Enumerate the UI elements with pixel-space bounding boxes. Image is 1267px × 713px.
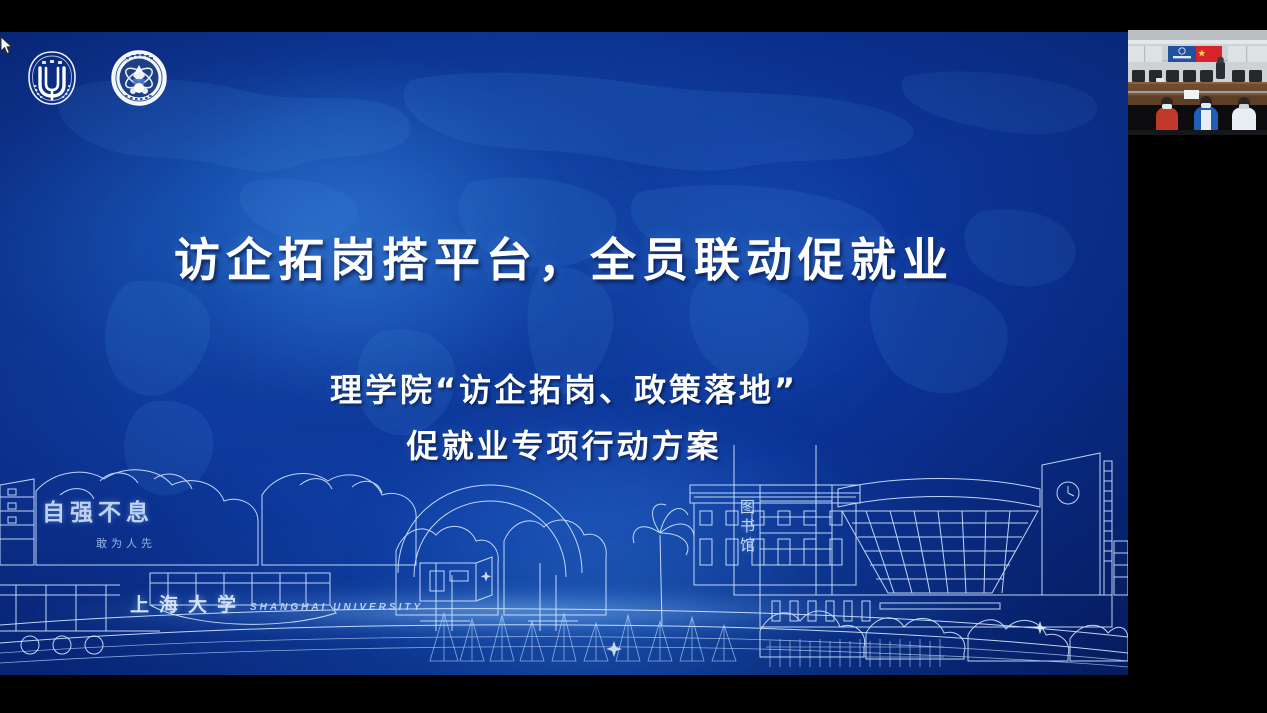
presentation-slide[interactable]: 访企拓岗搭平台，全员联动促就业 理学院“访企拓岗、政策落地” 促就业专项行动方案 [0, 32, 1128, 675]
screen-root: 访企拓岗搭平台，全员联动促就业 理学院“访企拓岗、政策落地” 促就业专项行动方案 [0, 0, 1267, 713]
vignette-overlay [0, 32, 1128, 675]
college-of-sciences-logo [110, 49, 168, 107]
slide-main-title: 访企拓岗搭平台，全员联动促就业 [0, 224, 1128, 290]
shanghai-university-logo [26, 49, 78, 107]
campus-motto-sub: 敢为人先 [96, 535, 156, 551]
university-name-cn: 上海大学 [130, 590, 246, 617]
meeting-room-camera-feed[interactable] [1128, 30, 1267, 135]
logo-row [26, 49, 168, 107]
slide-subtitle: 理学院“访企拓岗、政策落地” 促就业专项行动方案 [0, 362, 1128, 474]
library-sign-label: 图书馆 [740, 498, 762, 555]
subtitle-line-2: 促就业专项行动方案 [0, 418, 1128, 474]
campus-line-art [0, 445, 1128, 675]
campus-motto: 自强不息 [42, 493, 154, 527]
university-name-en: SHANGHAI UNIVERSITY [250, 602, 423, 613]
subtitle-line-1: 理学院“访企拓岗、政策落地” [0, 362, 1128, 418]
